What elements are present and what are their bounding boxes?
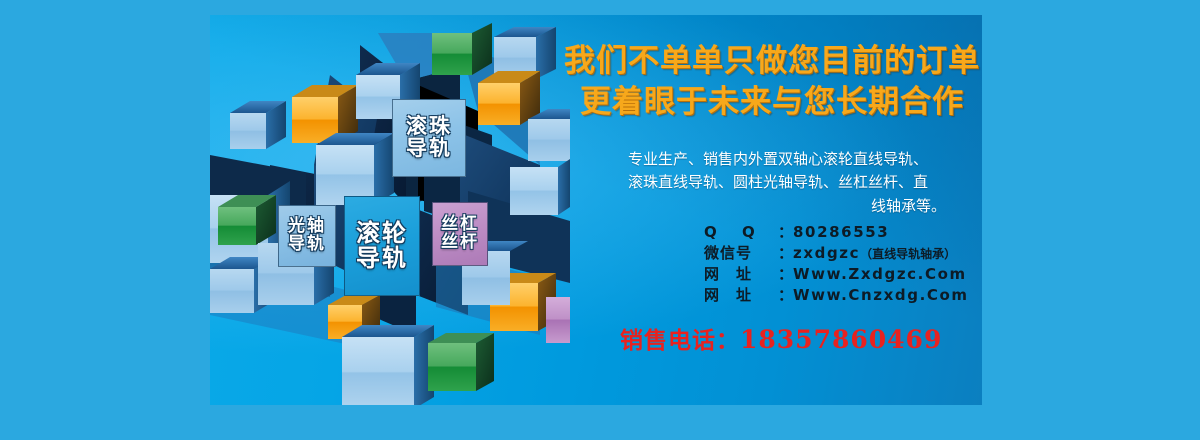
description-line-2: 滚珠直线导轨、圆柱光轴导轨、丝杠丝杆、直 [604, 171, 952, 194]
contact-label-qq: Q Q [704, 223, 778, 241]
contact-note-wechat: （直线导轨轴承） [860, 245, 956, 262]
contact-value-wechat[interactable]: zxdgzc [793, 244, 860, 262]
contact-separator: ： [778, 284, 793, 305]
sales-phone[interactable]: 销售电话：18357860469 [620, 321, 942, 355]
description-line-1: 专业生产、销售内外置双轴心滚轮直线导轨、 [604, 148, 952, 171]
contact-label-website-2: 网 址 [704, 284, 778, 305]
cube-green-top [432, 23, 492, 75]
cube-paleblue-center [316, 133, 394, 205]
contact-separator: ： [778, 263, 793, 284]
contact-row-qq: Q Q ： 80286553 [704, 221, 969, 242]
headline: 我们不单单只做您目前的订单 更着眼于未来与您长期合作 [562, 41, 982, 123]
product-cube-line2: 导轨 [288, 236, 326, 254]
cube-lightblue-topleft [230, 101, 286, 149]
product-cube-line2: 导轨 [356, 246, 408, 271]
contact-value-website-2[interactable]: Www.Cnzxdg.Com [793, 286, 969, 304]
contact-row-website-1: 网 址 ： Www.Zxdgzc.Com [704, 263, 969, 284]
headline-line-1: 我们不单单只做您目前的订单 [562, 41, 982, 82]
banner-page: 滚珠 导轨 光轴 导轨 滚轮 导轨 丝杠 丝杆 我们不单单只做您目前的订单 更着… [0, 0, 1200, 440]
cube-paleblue-rightmid [510, 159, 570, 215]
contact-label-wechat: 微信号 [704, 242, 778, 263]
product-cube-gunlun-daogui[interactable]: 滚轮 导轨 [344, 196, 420, 296]
product-cube-guangzhou-daogui[interactable]: 光轴 导轨 [278, 205, 336, 267]
headline-line-2: 更着眼于未来与您长期合作 [562, 82, 982, 123]
contact-row-wechat: 微信号 ： zxdgzc （直线导轨轴承） [704, 242, 969, 263]
product-cube-line1: 滚珠 [406, 116, 452, 138]
banner-copy-column: 我们不单单只做您目前的订单 更着眼于未来与您长期合作 专业生产、销售内外置双轴心… [562, 15, 982, 405]
product-cube-line2: 导轨 [406, 138, 452, 160]
contact-value-website-1[interactable]: Www.Zxdgzc.Com [793, 265, 967, 283]
sales-phone-label: 销售电话： [620, 328, 740, 354]
product-cube-gunzhu-daogui[interactable]: 滚珠 导轨 [392, 99, 466, 177]
contact-row-website-2: 网 址 ： Www.Cnzxdg.Com [704, 284, 969, 305]
cube-green-left [218, 195, 276, 245]
contact-value-qq[interactable]: 80286553 [793, 223, 889, 241]
cube-green-bottomright [428, 333, 494, 391]
product-cube-line2: 丝杆 [441, 234, 479, 252]
contact-info-list: Q Q ： 80286553 微信号 ： zxdgzc （直线导轨轴承） 网 址… [704, 221, 969, 305]
promo-banner: 滚珠 导轨 光轴 导轨 滚轮 导轨 丝杠 丝杆 我们不单单只做您目前的订单 更着… [210, 15, 982, 405]
description-line-3: 线轴承等。 [604, 195, 952, 218]
contact-separator: ： [778, 221, 793, 242]
sales-phone-number[interactable]: 18357860469 [740, 325, 942, 354]
contact-label-website-1: 网 址 [704, 263, 778, 284]
cube-orange-right [478, 71, 540, 125]
product-cube-sigang-sigan[interactable]: 丝杠 丝杆 [432, 202, 488, 266]
product-cube-line1: 滚轮 [356, 221, 408, 246]
description-paragraph: 专业生产、销售内外置双轴心滚轮直线导轨、 滚珠直线导轨、圆柱光轴导轨、丝杠丝杆、… [604, 148, 952, 218]
contact-separator: ： [778, 242, 793, 263]
cube-paleblue-bottomcenter [342, 325, 434, 405]
